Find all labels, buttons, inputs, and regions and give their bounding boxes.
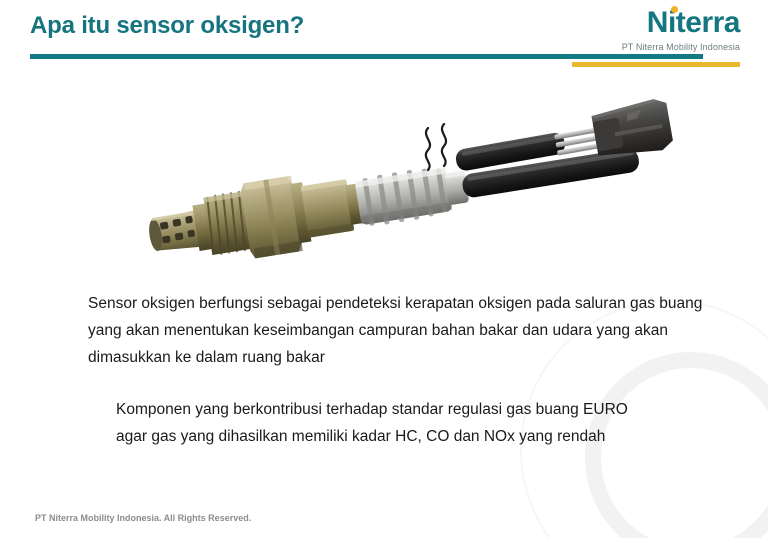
logo-subtitle: PT Niterra Mobility Indonesia [622, 42, 740, 52]
footer-copyright: PT Niterra Mobility Indonesia. All Right… [35, 513, 251, 523]
header-rule-teal [30, 54, 703, 59]
paragraph-two-last: agar gas yang dihasilkan memiliki kadar … [116, 423, 708, 450]
brand-logo: Niterra PT Niterra Mobility Indonesia [622, 8, 740, 52]
logo-wordmark: Niterra [647, 8, 740, 38]
logo-dot-icon [671, 6, 678, 13]
page-title: Apa itu sensor oksigen? [30, 12, 304, 40]
paragraph-two: Komponen yang berkontribusi terhadap sta… [116, 396, 708, 450]
oxygen-sensor-illustration [0, 70, 768, 270]
slide-canvas: Apa itu sensor oksigen? Niterra PT Niter… [0, 0, 768, 538]
cable-break-marks [426, 124, 446, 170]
paragraph-one: Sensor oksigen berfungsi sebagai pendete… [88, 290, 704, 371]
header-rule-yellow [572, 62, 740, 67]
logo-wordmark-text: Niterra [647, 6, 740, 39]
paragraph-two-main: Komponen yang berkontribusi terhadap sta… [116, 401, 628, 418]
